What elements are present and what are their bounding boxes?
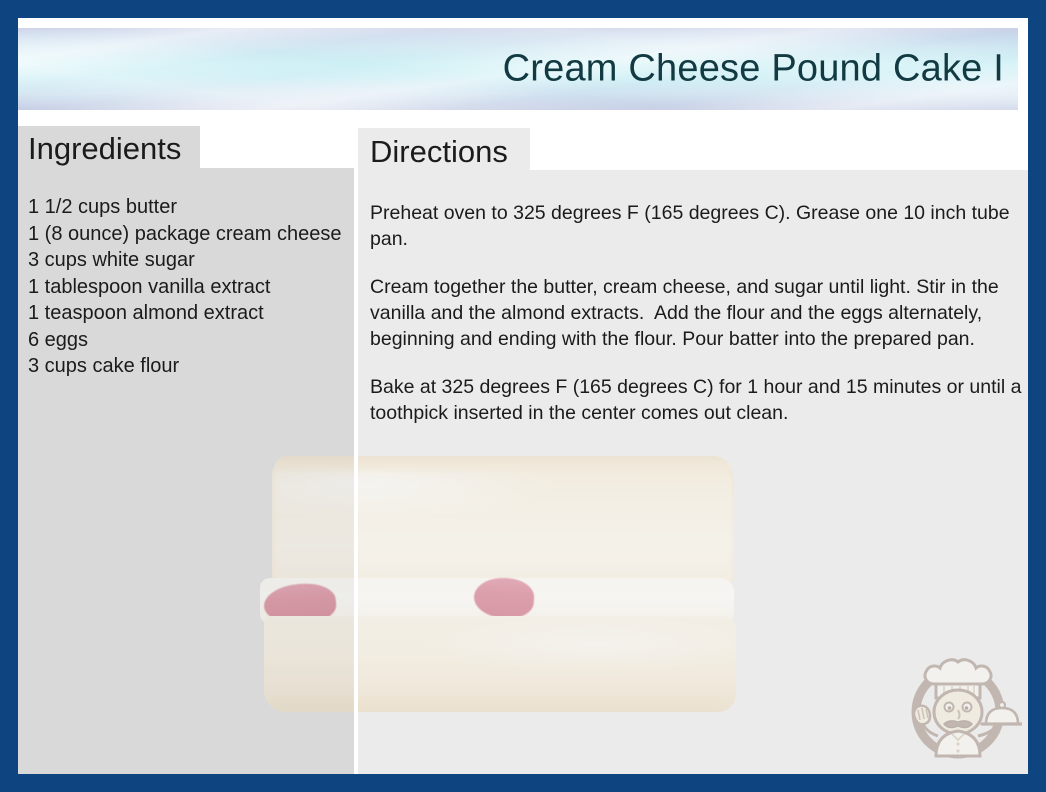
list-item: 1 (8 ounce) package cream cheese: [28, 221, 348, 248]
list-item: 1 tablespoon vanilla extract: [28, 274, 348, 301]
page-title: Cream Cheese Pound Cake I: [503, 48, 1004, 91]
title-banner: Cream Cheese Pound Cake I: [18, 28, 1018, 110]
recipe-card-inner: Cream Cheese Pound Cake I Ingredients 1 …: [18, 18, 1028, 774]
recipe-card: Cream Cheese Pound Cake I Ingredients 1 …: [0, 0, 1046, 792]
ingredients-list: 1 1/2 cups butter 1 (8 ounce) package cr…: [28, 194, 348, 380]
direction-paragraph: Preheat oven to 325 degrees F (165 degre…: [370, 200, 1028, 252]
list-item: 6 eggs: [28, 327, 348, 354]
directions-heading: Directions: [370, 134, 508, 170]
directions-body: Preheat oven to 325 degrees F (165 degre…: [370, 200, 1028, 426]
list-item: 3 cups white sugar: [28, 247, 348, 274]
direction-paragraph: Cream together the butter, cream cheese,…: [370, 274, 1028, 352]
list-item: 3 cups cake flour: [28, 353, 348, 380]
direction-paragraph: Bake at 325 degrees F (165 degrees C) fo…: [370, 374, 1028, 426]
ingredients-heading: Ingredients: [28, 131, 181, 167]
list-item: 1 teaspoon almond extract: [28, 300, 348, 327]
list-item: 1 1/2 cups butter: [28, 194, 348, 221]
panel-seam: [354, 168, 358, 774]
